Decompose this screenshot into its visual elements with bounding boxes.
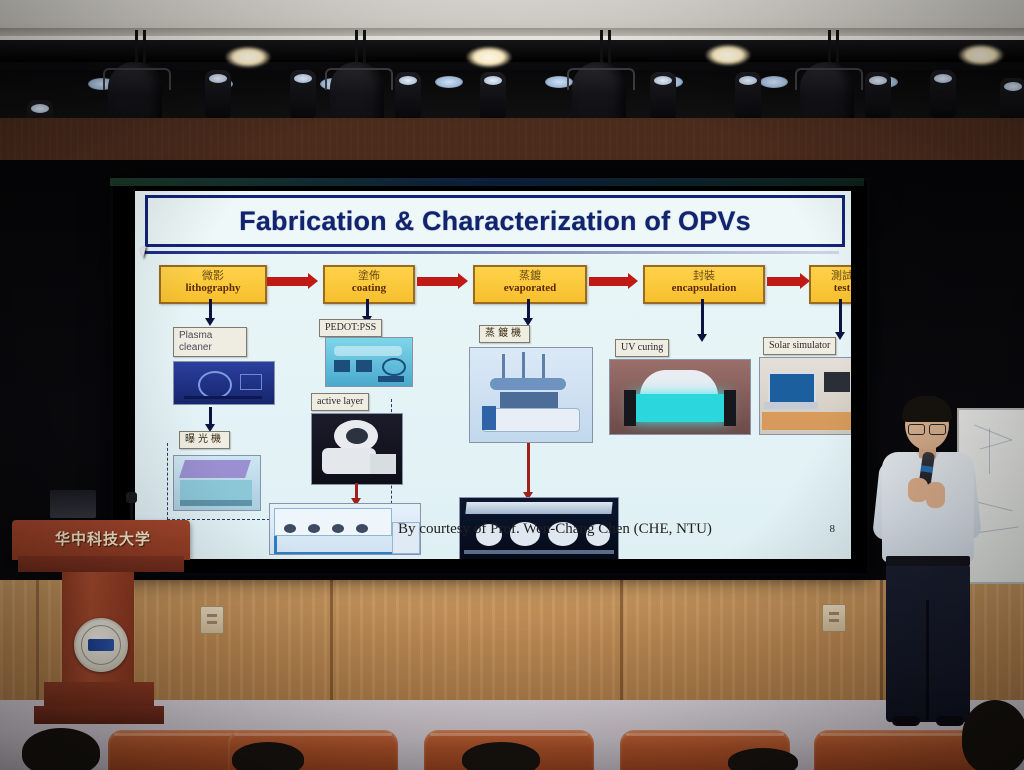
label-solar-simulator: Solar simulator (763, 337, 836, 355)
stage-light-icon (865, 72, 891, 122)
speaker-shoe (936, 716, 964, 726)
stage-light-icon (395, 72, 421, 122)
power-outlet-icon (822, 604, 846, 632)
down-arrow-icon (355, 483, 358, 499)
photo-uv-curing (609, 359, 751, 435)
flow-step-en: lithography (161, 282, 265, 295)
stage-light-icon (480, 72, 506, 122)
photo-plasma-cleaner (173, 361, 275, 405)
label-plasma-cleaner: Plasma cleaner (173, 327, 247, 357)
slide-title-box: Fabrication & Characterization of OPVs (145, 195, 845, 247)
speaker-right-hand (926, 482, 945, 508)
podium-front-face (18, 556, 184, 572)
audience-head (462, 742, 540, 770)
flow-step-cn: 封裝 (645, 270, 763, 282)
audience-head (22, 728, 100, 770)
slide-title: Fabrication & Characterization of OPVs (239, 206, 751, 237)
flow-arrow-icon (417, 277, 459, 286)
lecture-hall-photo: Fabrication & Characterization of OPVs 微… (0, 0, 1024, 770)
label-pedot-pss: PEDOT:PSS (319, 319, 382, 337)
downlight-icon (958, 44, 1004, 66)
speaker-belt (886, 556, 970, 566)
downlight-icon (466, 46, 512, 68)
podium-laptop (50, 490, 96, 518)
flow-step-en: coating (325, 282, 413, 295)
photo-spin-coater (311, 413, 403, 485)
down-arrow-icon (701, 299, 704, 335)
label-active-layer: active layer (311, 393, 369, 411)
stage-light-icon (290, 70, 316, 120)
photo-evaporator (469, 347, 593, 443)
process-flow-diagram: 微影 lithography 塗佈 coating 蒸鍍 evaporated … (159, 265, 835, 515)
podium-university-name: 华中科技大学 (28, 528, 178, 549)
glasses-icon (908, 424, 946, 433)
audience-chair (814, 730, 984, 770)
screen-top-glow (110, 178, 864, 186)
downlight-icon (225, 46, 271, 68)
audience-head (962, 700, 1024, 770)
wall-seam (36, 580, 39, 720)
projection-screen: Fabrication & Characterization of OPVs 微… (110, 178, 870, 576)
photo-coater (325, 337, 413, 387)
flow-step-coating: 塗佈 coating (323, 265, 415, 304)
photo-solar-simulator (759, 357, 851, 435)
flow-step-lithography: 微影 lithography (159, 265, 267, 304)
slide-page-number: 8 (830, 523, 836, 535)
down-arrow-icon (839, 299, 842, 333)
speaker-leg-seam (926, 600, 929, 720)
flow-step-cn: 測試 (811, 270, 851, 282)
wall-seam (880, 580, 883, 720)
flow-step-test: 測試 test (809, 265, 851, 304)
down-arrow-icon (366, 299, 369, 317)
power-outlet-icon (200, 606, 224, 634)
microphone-icon (126, 492, 137, 503)
audience-head (728, 748, 798, 770)
mouse-cursor-icon (139, 246, 149, 259)
flow-step-evaporated: 蒸鍍 evaporated (473, 265, 587, 304)
flow-step-en: encapsulation (645, 282, 763, 295)
flow-arrow-icon (589, 277, 629, 286)
flow-arrow-icon (767, 277, 801, 286)
presentation-slide: Fabrication & Characterization of OPVs 微… (135, 191, 851, 559)
flow-step-en: test (811, 282, 851, 295)
down-arrow-icon (209, 407, 212, 425)
label-uv-curing: UV curing (615, 339, 669, 357)
lighting-truss (0, 40, 1024, 62)
podium-plinth (34, 706, 164, 724)
downlight-icon (705, 44, 751, 66)
label-evaporator: 蒸鍍機 (479, 325, 530, 343)
down-arrow-icon (527, 443, 530, 493)
speaker-shoe (892, 716, 920, 726)
stage-light-icon (205, 70, 231, 120)
flow-step-cn: 蒸鍍 (475, 270, 585, 282)
ceiling-blue-light-icon (435, 76, 463, 88)
stage-light-icon (735, 72, 761, 122)
flow-step-cn: 塗佈 (325, 270, 413, 282)
down-arrow-icon (209, 299, 212, 319)
audience-head (232, 742, 304, 770)
stage-light-icon (650, 72, 676, 122)
flow-step-en: evaporated (475, 282, 585, 295)
flow-step-cn: 微影 (161, 270, 265, 282)
wall-seam (330, 580, 333, 720)
flow-step-encapsulation: 封裝 encapsulation (643, 265, 765, 304)
wall-seam (620, 580, 623, 720)
stage-light-icon (930, 70, 956, 120)
title-underline (145, 251, 839, 254)
down-arrow-icon (527, 299, 530, 319)
university-seal-icon (74, 618, 128, 672)
slide-caption: By courtesy of Prof. Wen-Chang Chen (CHE… (315, 521, 795, 538)
ceiling-blue-light-icon (760, 76, 788, 88)
flow-arrow-icon (267, 277, 309, 286)
speaker-left-hand (908, 478, 928, 502)
